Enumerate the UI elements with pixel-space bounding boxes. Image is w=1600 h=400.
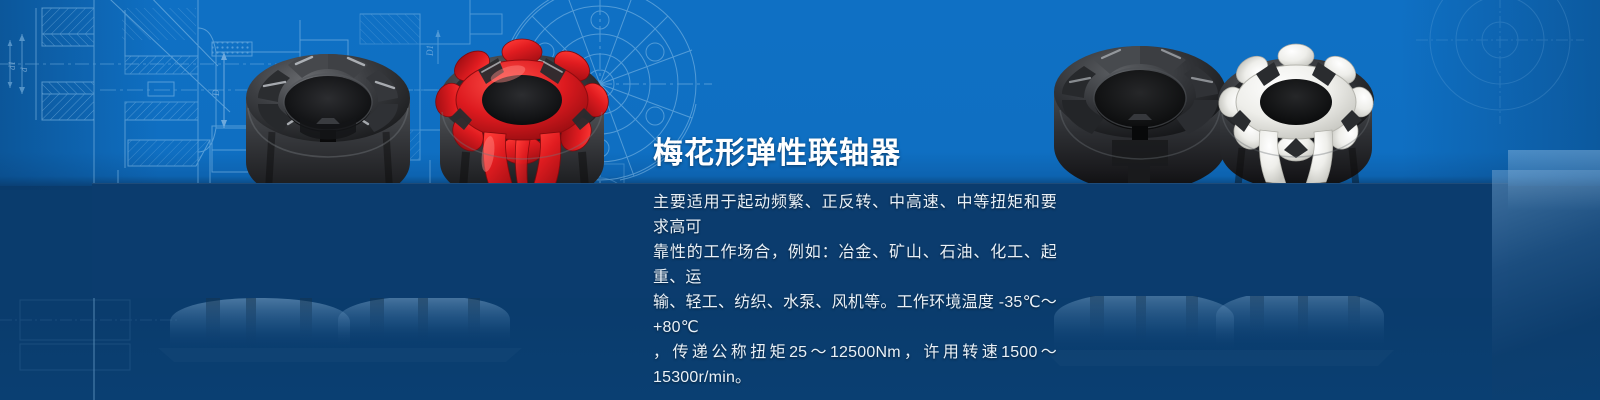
product-photo-right-pair <box>1040 16 1380 206</box>
description-line-4: ，传递公称扭矩25～12500Nm，许用转速1500～15300r/min。 <box>653 340 1057 390</box>
vignette-right <box>1400 0 1600 190</box>
vignette-left <box>0 0 160 190</box>
description-text: 主要适用于起动频繁、正反转、中高速、中等扭矩和要求高可 靠性的工作场合，例如：冶… <box>653 190 1057 390</box>
description-line-2: 靠性的工作场合，例如：冶金、矿山、石油、化工、起重、运 <box>653 240 1057 290</box>
page-title: 梅花形弹性联轴器 <box>653 134 1073 174</box>
description-line-1: 主要适用于起动频繁、正反转、中高速、中等扭矩和要求高可 <box>653 190 1057 240</box>
product-banner: d d1 <box>0 0 1600 400</box>
description-line-3: 输、轻工、纺织、水泵、风机等。工作环境温度 -35℃～+80℃ <box>653 290 1057 340</box>
product-photo-left-pair <box>228 12 628 212</box>
headline-wrap: 梅花形弹性联轴器 <box>653 134 1073 174</box>
